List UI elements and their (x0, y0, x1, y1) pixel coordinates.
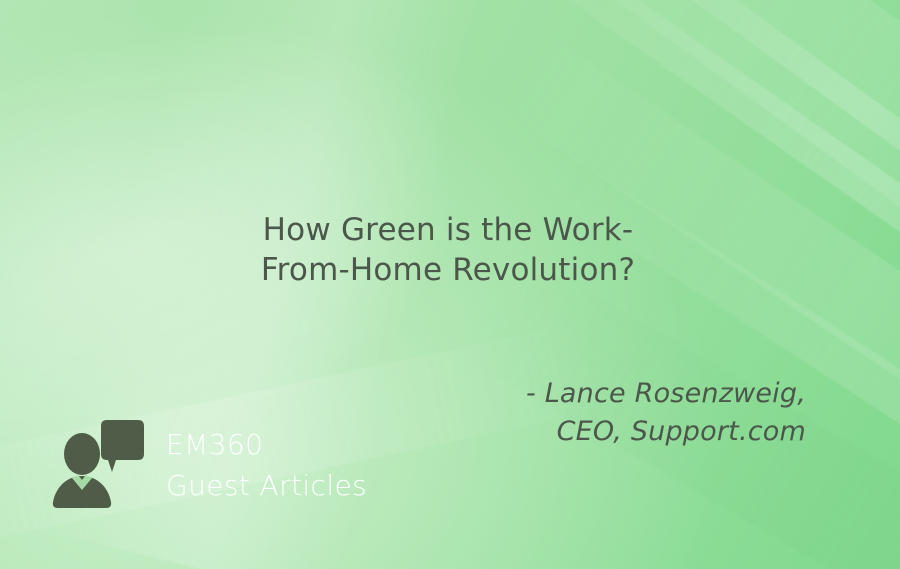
article-headline: How Green is the Work- From-Home Revolut… (170, 210, 726, 290)
author-attribution: - Lance Rosenzweig, CEO, Support.com (386, 375, 806, 451)
streak-5 (472, 16, 900, 569)
brand-name: EM360 (166, 424, 367, 465)
brand-subtitle: Guest Articles (166, 465, 367, 506)
brand-text-block: EM360 Guest Articles (166, 424, 367, 506)
brand-lockup: EM360 Guest Articles (50, 414, 367, 510)
person-with-speech-bubble-icon (50, 414, 146, 510)
guest-article-title-card: How Green is the Work- From-Home Revolut… (0, 0, 900, 569)
streak-1 (369, 0, 900, 175)
streak-6 (520, 139, 900, 569)
